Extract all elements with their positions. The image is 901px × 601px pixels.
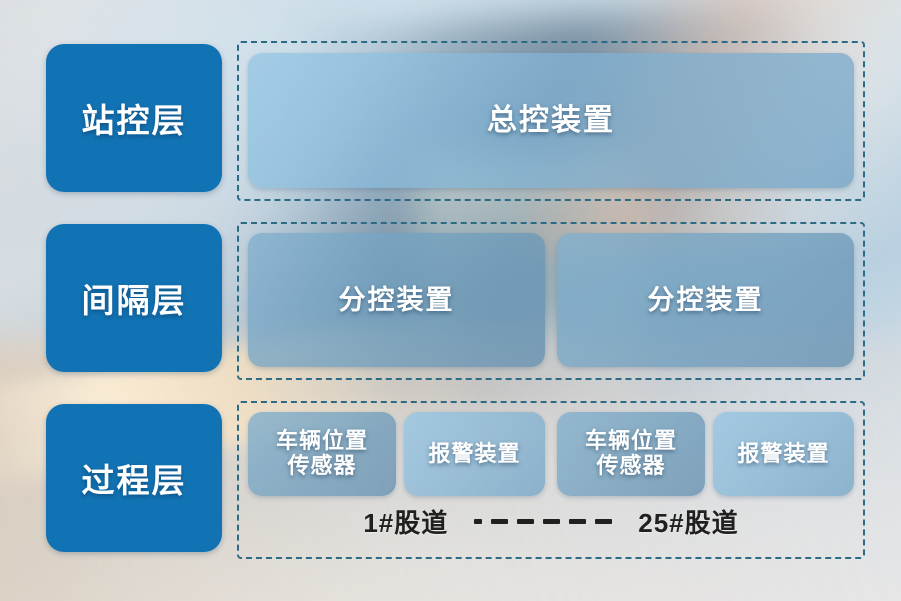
- device-label-alarm-device-2: 报警装置: [737, 442, 829, 467]
- track-label-first: 1#股道: [363, 503, 448, 540]
- device-label-sub-controller-2: 分控装置: [648, 285, 764, 315]
- layer-chip-label-process-level: 过程层: [82, 454, 187, 502]
- device-card-sub-controller-2[interactable]: 分控装置: [557, 233, 854, 367]
- device-label-alarm-device-1: 报警装置: [428, 442, 520, 467]
- layer-chip-bay-level[interactable]: 间隔层: [46, 224, 222, 372]
- layer-chip-process-level[interactable]: 过程层: [46, 404, 222, 552]
- device-label-sub-controller-1: 分控装置: [339, 285, 455, 315]
- device-card-sub-controller-1[interactable]: 分控装置: [248, 233, 545, 367]
- layer-chip-label-bay-level: 间隔层: [82, 274, 187, 322]
- layer-chip-label-station-control: 站控层: [82, 94, 187, 142]
- device-label-vehicle-position-sensor-1: 车辆位置 传感器: [276, 429, 368, 478]
- device-card-vehicle-position-sensor-2[interactable]: 车辆位置 传感器: [557, 412, 705, 496]
- device-card-master-controller[interactable]: 总控装置: [248, 53, 854, 188]
- device-label-master-controller: 总控装置: [487, 104, 615, 138]
- device-label-vehicle-position-sensor-2: 车辆位置 传感器: [585, 429, 677, 478]
- track-ellipsis-dashes: [474, 519, 612, 524]
- track-label-last: 25#股道: [638, 503, 738, 540]
- device-card-vehicle-position-sensor-1[interactable]: 车辆位置 传感器: [248, 412, 396, 496]
- device-card-alarm-device-1[interactable]: 报警装置: [404, 412, 545, 496]
- layer-chip-station-control[interactable]: 站控层: [46, 44, 222, 192]
- device-card-alarm-device-2[interactable]: 报警装置: [713, 412, 854, 496]
- diagram-canvas: 站控层 总控装置 间隔层 分控装置 分控装置 过程层 车辆位置 传感器 报警装置…: [0, 0, 901, 601]
- track-label-row: 1#股道 25#股道: [248, 500, 854, 542]
